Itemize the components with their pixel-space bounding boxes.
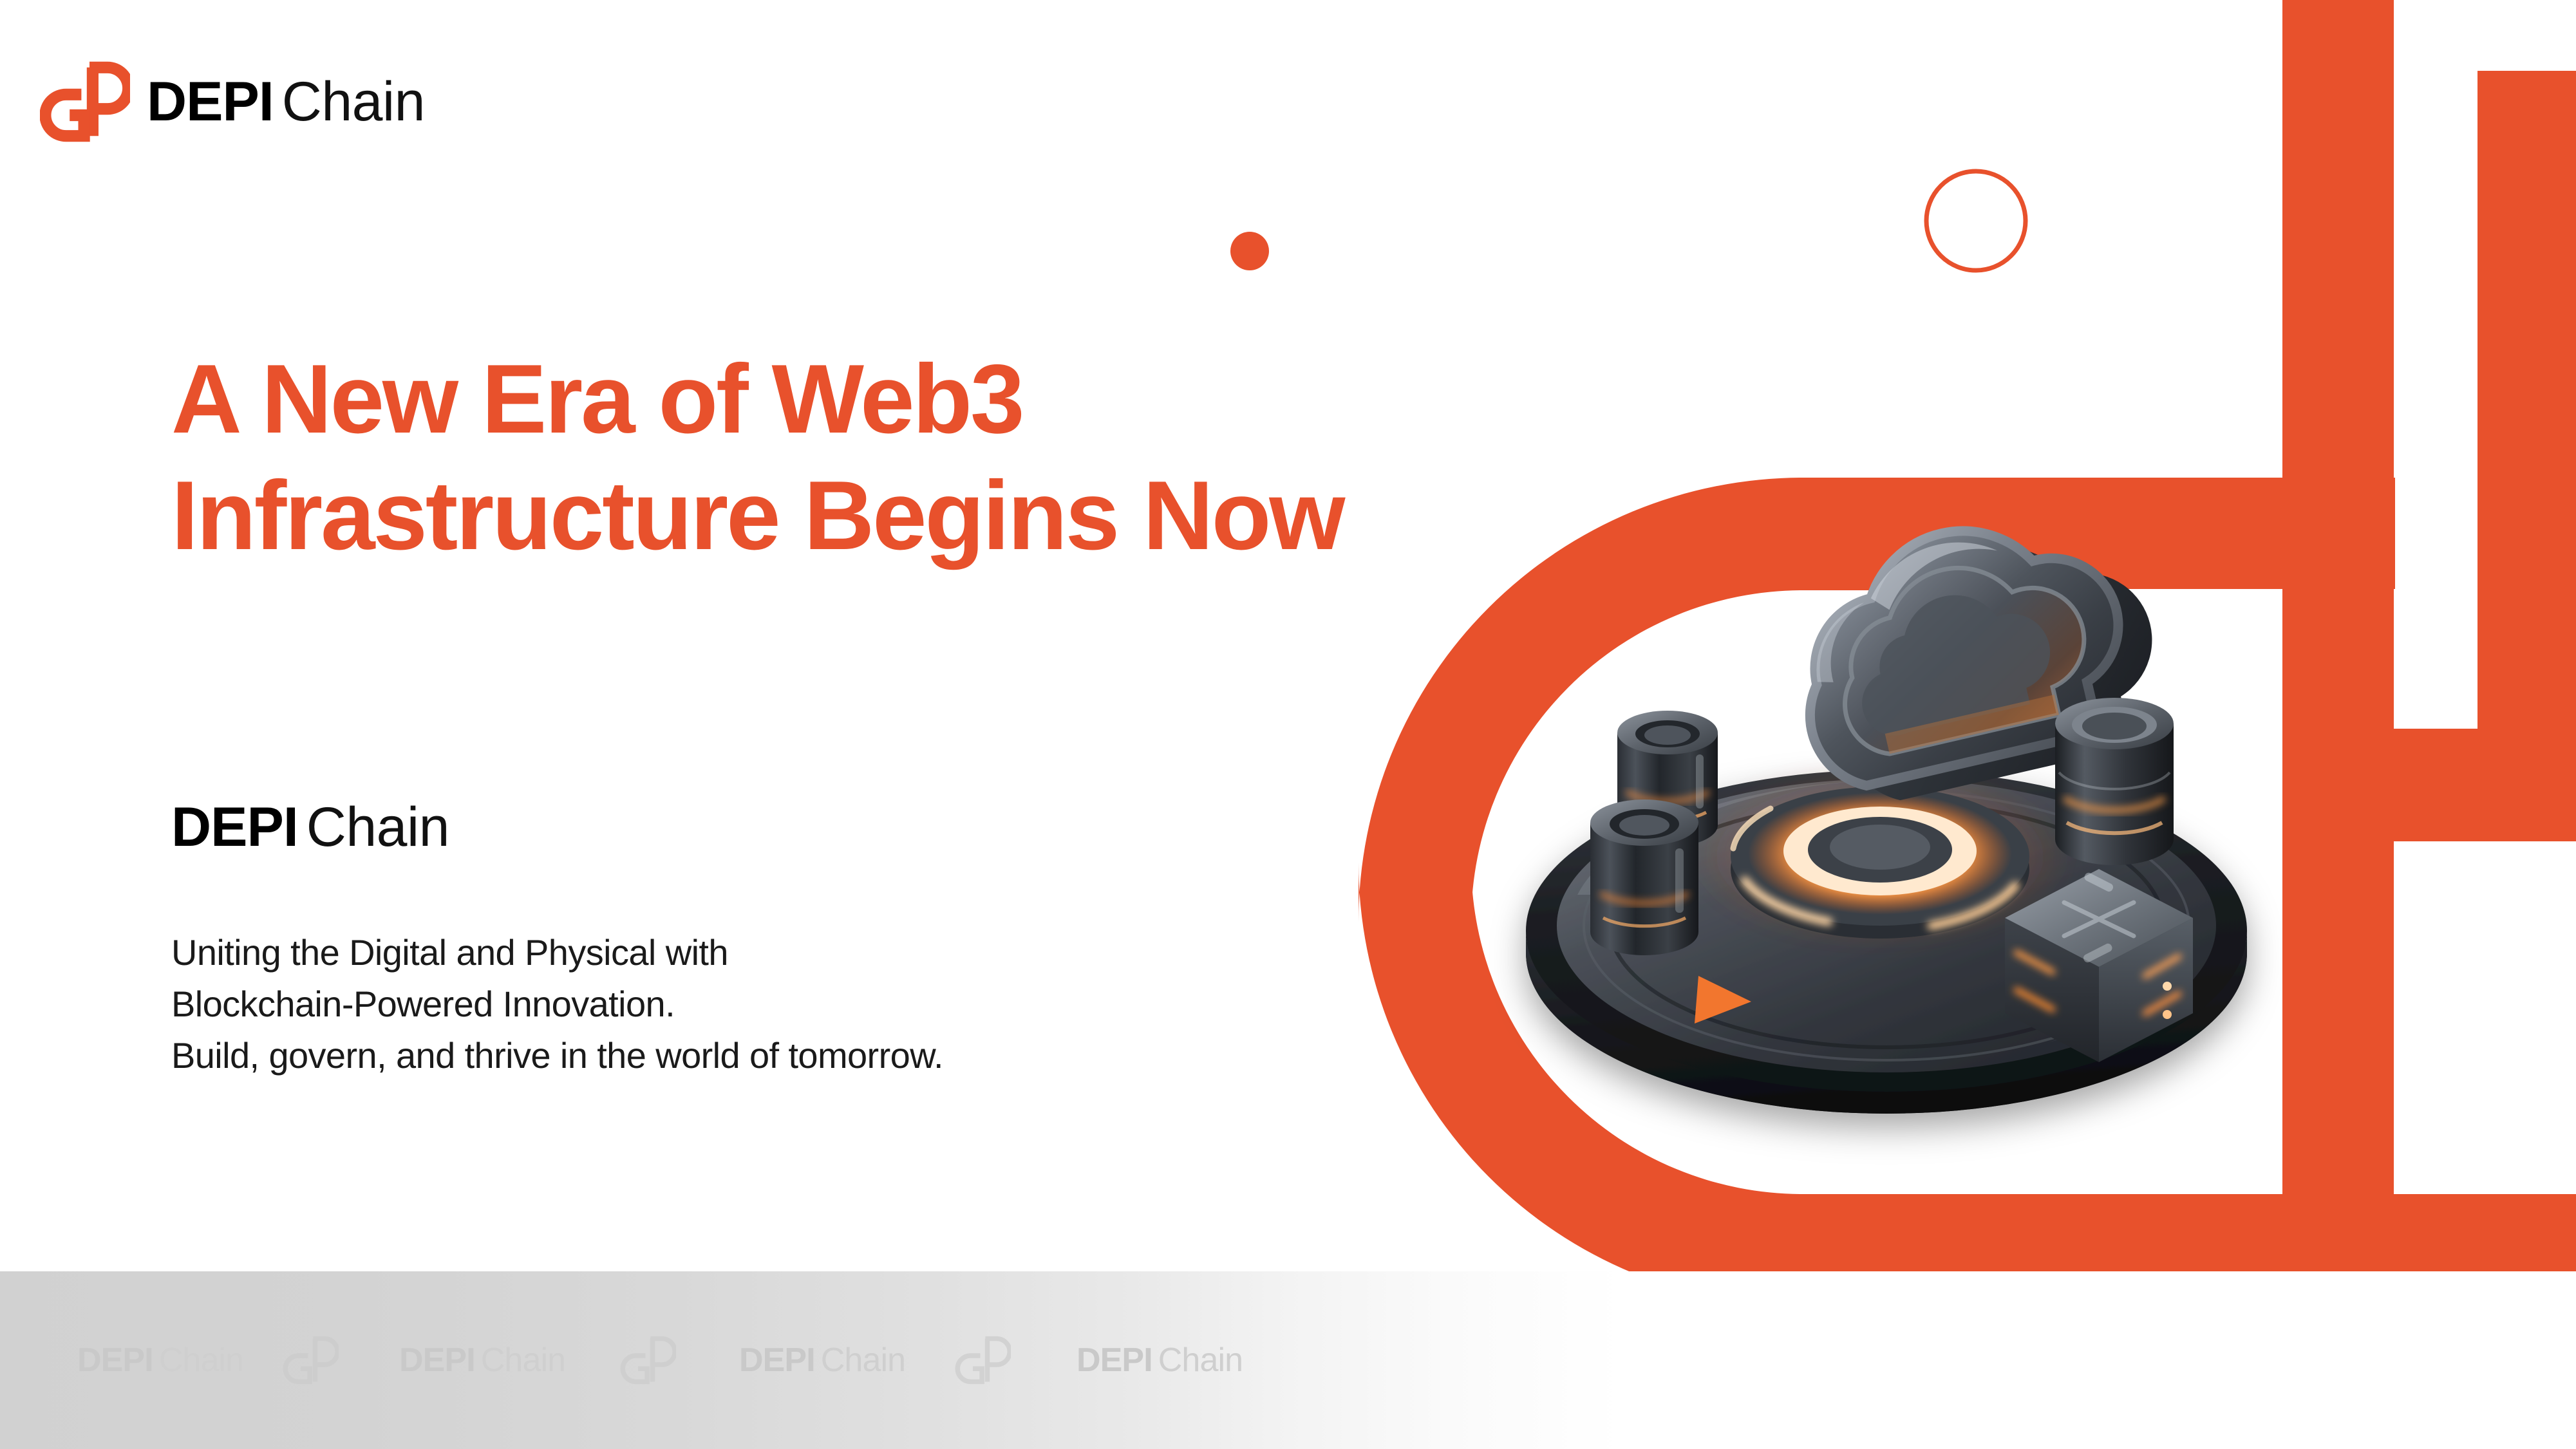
- 3d-cloud-infrastructure-render: [1468, 444, 2305, 1172]
- watermark-item: DEPI Chain: [739, 1343, 905, 1377]
- watermark-logo-row: DEPI Chain DEPI Chain: [0, 1271, 2576, 1449]
- database-cylinder-left-lower: [1590, 799, 1698, 955]
- body-copy-line-2: Blockchain-Powered Innovation.: [171, 978, 943, 1030]
- database-cylinder-left-upper: [1617, 711, 1718, 847]
- hero-body-copy: Uniting the Digital and Physical with Bl…: [171, 927, 943, 1081]
- hero-brand-lockup: DEPI Chain: [171, 799, 449, 855]
- watermark-item: DEPI Chain: [399, 1343, 565, 1377]
- watermark-item: DEPI Chain: [77, 1343, 243, 1377]
- server-node-cube: [2005, 869, 2193, 1062]
- depi-chain-gp-monogram-icon: [40, 57, 130, 147]
- database-cylinder-right: [2055, 698, 2174, 865]
- watermark-wordmark-light: Chain: [481, 1343, 565, 1377]
- background-decoration-layer: [0, 0, 2576, 1449]
- circular-platform-disc: [1526, 770, 2247, 1114]
- header-wordmark: DEPI Chain: [147, 74, 425, 129]
- orange-maze-bar-vertical-2: [2477, 71, 2576, 840]
- headline-line-2: Infrastructure Begins Now: [171, 458, 1343, 574]
- orange-maze-bar-horizontal-top: [1983, 478, 2395, 589]
- watermark-item: DEPI Chain: [1076, 1343, 1243, 1377]
- watermark-item: [619, 1332, 676, 1388]
- orange-triangle-marker: [1695, 976, 1751, 1024]
- orange-dot-decoration: [1230, 232, 1269, 270]
- watermark-wordmark-light: Chain: [821, 1343, 905, 1377]
- hero-brand-bold: DEPI: [171, 799, 298, 855]
- watermark-wordmark-light: Chain: [159, 1343, 243, 1377]
- header-logo-lockup[interactable]: DEPI Chain: [40, 57, 425, 147]
- hero-brand-light: Chain: [306, 799, 449, 855]
- watermark-wordmark-bold: DEPI: [739, 1343, 815, 1377]
- depi-chain-gp-monogram-icon: [282, 1332, 339, 1388]
- body-copy-line-1: Uniting the Digital and Physical with: [171, 927, 943, 978]
- orange-circle-outline-decoration: [1926, 171, 2026, 270]
- footer-watermark-strip: DEPI Chain DEPI Chain: [0, 1271, 2576, 1449]
- header-wordmark-light: Chain: [282, 74, 425, 129]
- orange-maze-bar-horizontal-mid: [2382, 729, 2576, 841]
- watermark-wordmark: DEPI Chain: [1076, 1343, 1243, 1377]
- watermark-wordmark-light: Chain: [1158, 1343, 1243, 1377]
- watermark-item: [954, 1332, 1011, 1388]
- body-copy-line-3: Build, govern, and thrive in the world o…: [171, 1030, 943, 1081]
- glowing-orange-ring: [1687, 766, 2073, 946]
- orange-rounded-arc-decoration: [1359, 478, 2047, 1307]
- watermark-wordmark-bold: DEPI: [77, 1343, 153, 1377]
- watermark-wordmark: DEPI Chain: [77, 1343, 243, 1377]
- watermark-item: [282, 1332, 339, 1388]
- watermark-wordmark-bold: DEPI: [399, 1343, 475, 1377]
- headline-line-1: A New Era of Web3: [171, 341, 1343, 458]
- header-wordmark-bold: DEPI: [147, 74, 274, 129]
- watermark-wordmark: DEPI Chain: [399, 1343, 565, 1377]
- page-headline: A New Era of Web3 Infrastructure Begins …: [171, 341, 1343, 574]
- orange-maze-bar-vertical-1: [2282, 0, 2394, 1197]
- watermark-wordmark-bold: DEPI: [1076, 1343, 1152, 1377]
- depi-chain-gp-monogram-icon: [954, 1332, 1011, 1388]
- depi-chain-gp-monogram-icon: [619, 1332, 676, 1388]
- watermark-wordmark: DEPI Chain: [739, 1343, 905, 1377]
- metallic-cloud-icon: [1775, 492, 2176, 816]
